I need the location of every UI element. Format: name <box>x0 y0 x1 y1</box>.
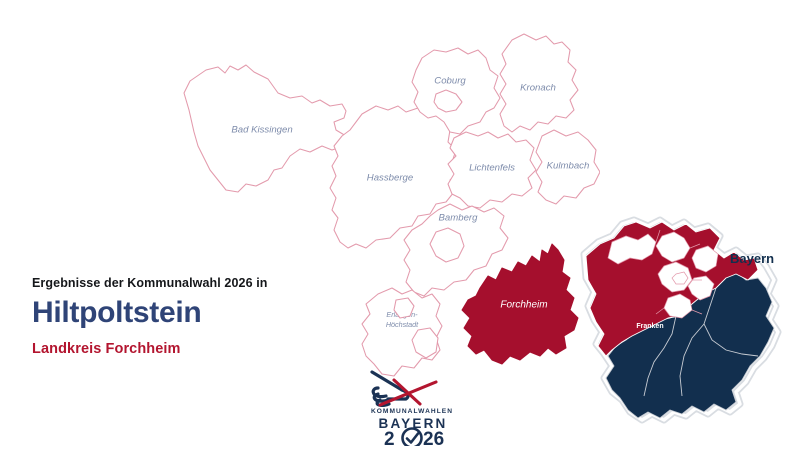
district-label-kulmbach: Kulmbach <box>547 161 590 172</box>
bavaria-label-bayern: Bayern <box>730 251 774 266</box>
bavaria-label-franken: Franken <box>636 323 663 330</box>
election-result-map-graphic: Bad Kissingen Hassberge Coburg Kronach L… <box>0 0 800 450</box>
bavaria-overview-inset[interactable]: Franken Bayern <box>568 206 800 442</box>
kicker-text: Ergebnisse der Kommunalwahl 2026 in <box>32 276 362 291</box>
logo-text-kommunalwahlen: KOMMUNALWAHLEN <box>371 408 453 415</box>
page-title: Hiltpoltstein <box>32 297 362 329</box>
district-label-hassberge: Hassberge <box>367 173 413 184</box>
district-label-kronach: Kronach <box>520 83 556 94</box>
kommunalwahlen-bayern-2026-logo[interactable]: KOMMUNALWAHLEN BAYERN 2 26 <box>358 358 466 446</box>
subtitle-district: Landkreis Forchheim <box>32 341 362 358</box>
logo-text-year-prefix: 2 <box>384 429 395 446</box>
title-block: Ergebnisse der Kommunalwahl 2026 in Hilt… <box>32 276 362 358</box>
district-label-bad-kissingen: Bad Kissingen <box>231 125 292 136</box>
district-label-forchheim: Forchheim <box>500 300 547 311</box>
district-label-lichtenfels: Lichtenfels <box>469 163 515 174</box>
check-circle-icon <box>403 429 422 447</box>
district-label-erlangen-hoechstadt-line2: Höchstadt <box>386 320 419 329</box>
district-label-bamberg: Bamberg <box>439 213 479 224</box>
district-label-coburg: Coburg <box>434 76 466 87</box>
logo-text-year-suffix: 26 <box>423 429 444 446</box>
